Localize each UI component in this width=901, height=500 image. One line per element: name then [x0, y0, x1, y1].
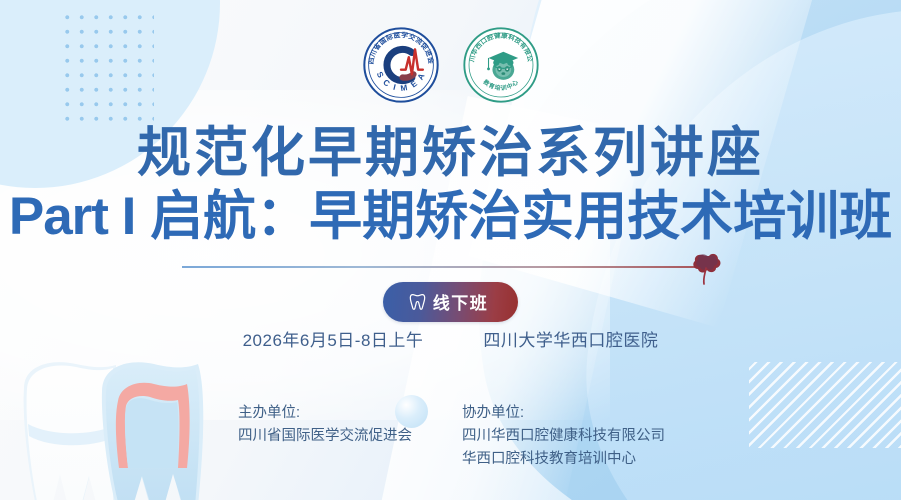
tooth-cross-section-illustration: [0, 356, 232, 500]
page-subtitle-cjk: 启航：早期矫治实用技术培训班: [150, 187, 892, 246]
title-divider: [182, 266, 700, 269]
flag-marker-icon: [690, 248, 724, 286]
scimea-logo: 四川省国际医学交流促进会 S C I M E A: [362, 26, 440, 104]
cohost-heading: 协办单位:: [462, 402, 665, 424]
status-badge[interactable]: 线下班: [383, 282, 519, 322]
poster-canvas: 四川省国际医学交流促进会 S C I M E A 四川华西口腔健康科技有限公司: [0, 0, 901, 500]
page-subtitle: Part I 启航：早期矫治实用技术培训班: [0, 188, 901, 246]
cohost-organiser: 协办单位: 四川华西口腔健康科技有限公司 华西口腔科技教育培训中心: [462, 402, 665, 470]
tooth-right-cross-section: [102, 362, 203, 500]
page-subtitle-latin: Part I: [9, 187, 136, 246]
badge-label: 线下班: [433, 289, 489, 314]
event-meta: 2026年6月5日-8日上午 四川大学华西口腔医院: [0, 326, 901, 351]
title-block: 规范化早期矫治系列讲座 Part I 启航：早期矫治实用技术培训班: [0, 124, 901, 247]
tooth-left-whole: [24, 362, 116, 500]
host-heading: 主办单位:: [238, 402, 462, 424]
event-date: 2026年6月5日-8日上午: [243, 326, 424, 351]
divider-line: [182, 266, 700, 268]
huaxi-training-center-logo: 四川华西口腔健康科技有限公司 教育培训中心: [462, 26, 540, 104]
diagonal-hatch-pattern: [749, 362, 901, 448]
logo-row: 四川省国际医学交流促进会 S C I M E A 四川华西口腔健康科技有限公司: [0, 26, 901, 104]
host-organiser: 主办单位: 四川省国际医学交流促进会: [238, 402, 462, 470]
cohost-name-1: 四川华西口腔健康科技有限公司: [462, 425, 665, 447]
cohost-name-2: 华西口腔科技教育培训中心: [462, 448, 665, 470]
host-name-1: 四川省国际医学交流促进会: [238, 425, 462, 447]
page-title: 规范化早期矫治系列讲座: [0, 124, 901, 182]
badge-row: 线下班: [0, 282, 901, 322]
organisers-block: 主办单位: 四川省国际医学交流促进会 协办单位: 四川华西口腔健康科技有限公司 …: [238, 402, 665, 470]
tooth-icon: [409, 293, 426, 311]
event-venue: 四川大学华西口腔医院: [483, 326, 658, 351]
